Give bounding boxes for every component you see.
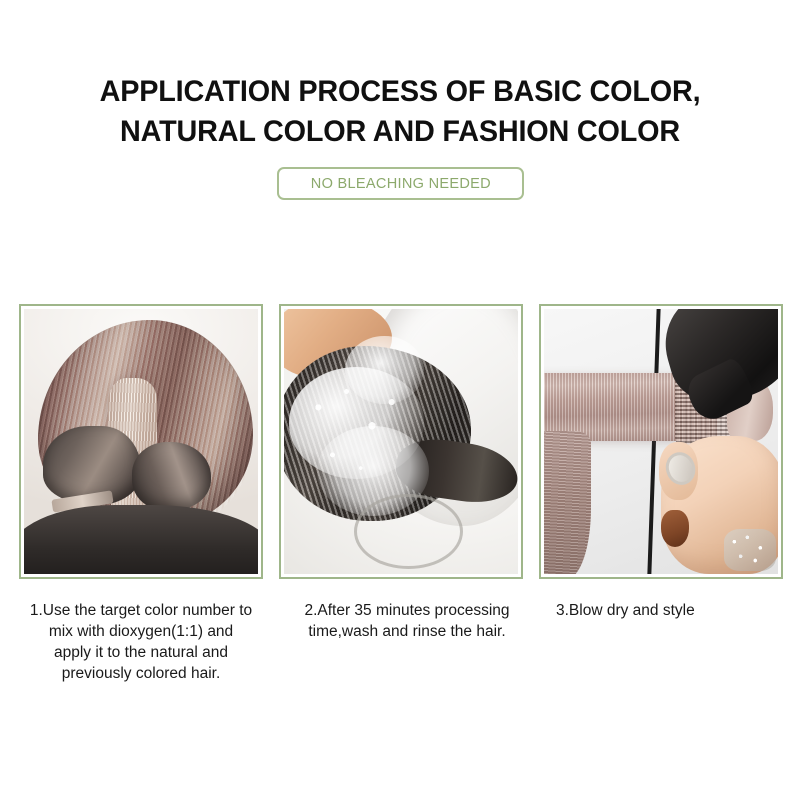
page-title-line-2: NATURAL COLOR AND FASHION COLOR: [16, 112, 784, 152]
step-caption-2: 2.After 35 minutes processing time,wash …: [272, 600, 534, 684]
photo1-salon-cape: [24, 505, 258, 574]
step-caption-row: 1.Use the target color number to mix wit…: [10, 600, 790, 684]
step-photo-1: [19, 304, 263, 579]
photo1-gloved-hand-right: [132, 442, 212, 511]
page-title-line-1: APPLICATION PROCESS OF BASIC COLOR,: [16, 72, 784, 112]
no-bleaching-badge: NO BLEACHING NEEDED: [277, 167, 524, 200]
step-caption-3: 3.Blow dry and style: [534, 600, 790, 684]
photo2-bubbles: [293, 373, 433, 506]
step-photo-row: [19, 304, 783, 579]
infographic-page: APPLICATION PROCESS OF BASIC COLOR, NATU…: [0, 0, 800, 800]
photo3-bracelet: [724, 529, 775, 571]
hair-washing-rinse-photo: [284, 309, 518, 574]
blow-dry-style-photo: [544, 309, 778, 574]
photo3-hanging-hair-strands: [544, 431, 591, 574]
photo2-basin-drain: [354, 494, 463, 569]
step-photo-3: [539, 304, 783, 579]
hair-dye-application-photo: [24, 309, 258, 574]
no-bleaching-badge-label: NO BLEACHING NEEDED: [310, 175, 490, 192]
step-photo-2: [279, 304, 523, 579]
page-title: APPLICATION PROCESS OF BASIC COLOR, NATU…: [0, 72, 800, 152]
step-caption-1: 1.Use the target color number to mix wit…: [10, 600, 272, 684]
